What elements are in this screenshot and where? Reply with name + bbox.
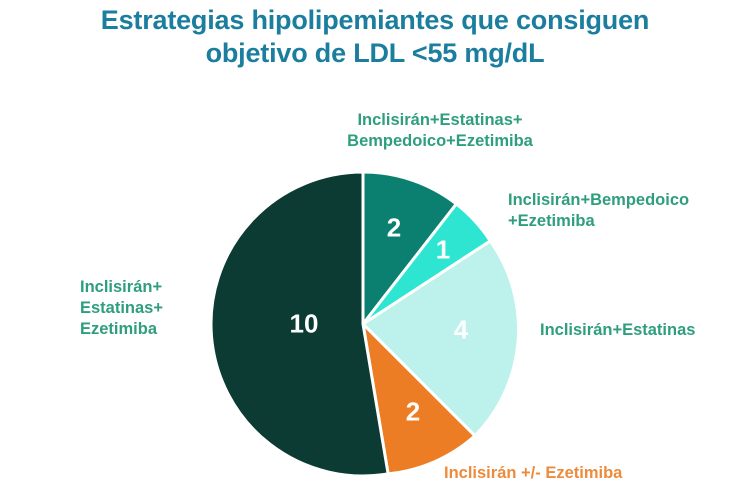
pie-label-inclisiran-estatinas-ezetimiba: Inclisirán+ Estatinas+ Ezetimiba <box>80 277 163 340</box>
pie-label-line-3: Ezetimiba <box>80 319 163 340</box>
pie-label-line-2: Bempedoico+Ezetimiba <box>347 131 533 152</box>
pie-chart: 10 2 1 4 2 Inclisirán+ Estatinas+ Ezetim… <box>0 0 750 495</box>
pie-label-inclisiran-estatinas-bempedoico-ezetimiba: Inclisirán+Estatinas+ Bempedoico+Ezetimi… <box>347 110 533 152</box>
pie-label-line-1: Inclisirán+Bempedoico <box>508 190 689 211</box>
pie-label-inclisiran-bempedoico-ezetimiba: Inclisirán+Bempedoico +Ezetimiba <box>508 190 689 232</box>
pie-label-line-1: Inclisirán +/- Ezetimiba <box>444 463 622 484</box>
pie-slices <box>211 172 519 476</box>
slide-canvas: Estrategias hipolipemiantes que consigue… <box>0 0 750 495</box>
pie-label-line-2: Estatinas+ <box>80 298 163 319</box>
pie-label-line-2: +Ezetimiba <box>508 211 689 232</box>
pie-label-line-1: Inclisirán+Estatinas+ <box>347 110 533 131</box>
pie-label-inclisiran-estatinas: Inclisirán+Estatinas <box>540 320 695 341</box>
pie-chart-svg <box>0 0 750 495</box>
pie-slice-inclisiran-estatinas-ezetimiba[interactable] <box>211 172 388 476</box>
pie-label-line-1: Inclisirán+ <box>80 277 163 298</box>
pie-label-line-1: Inclisirán+Estatinas <box>540 320 695 341</box>
pie-label-inclisiran-mas-menos-ezetimiba: Inclisirán +/- Ezetimiba <box>444 463 622 484</box>
